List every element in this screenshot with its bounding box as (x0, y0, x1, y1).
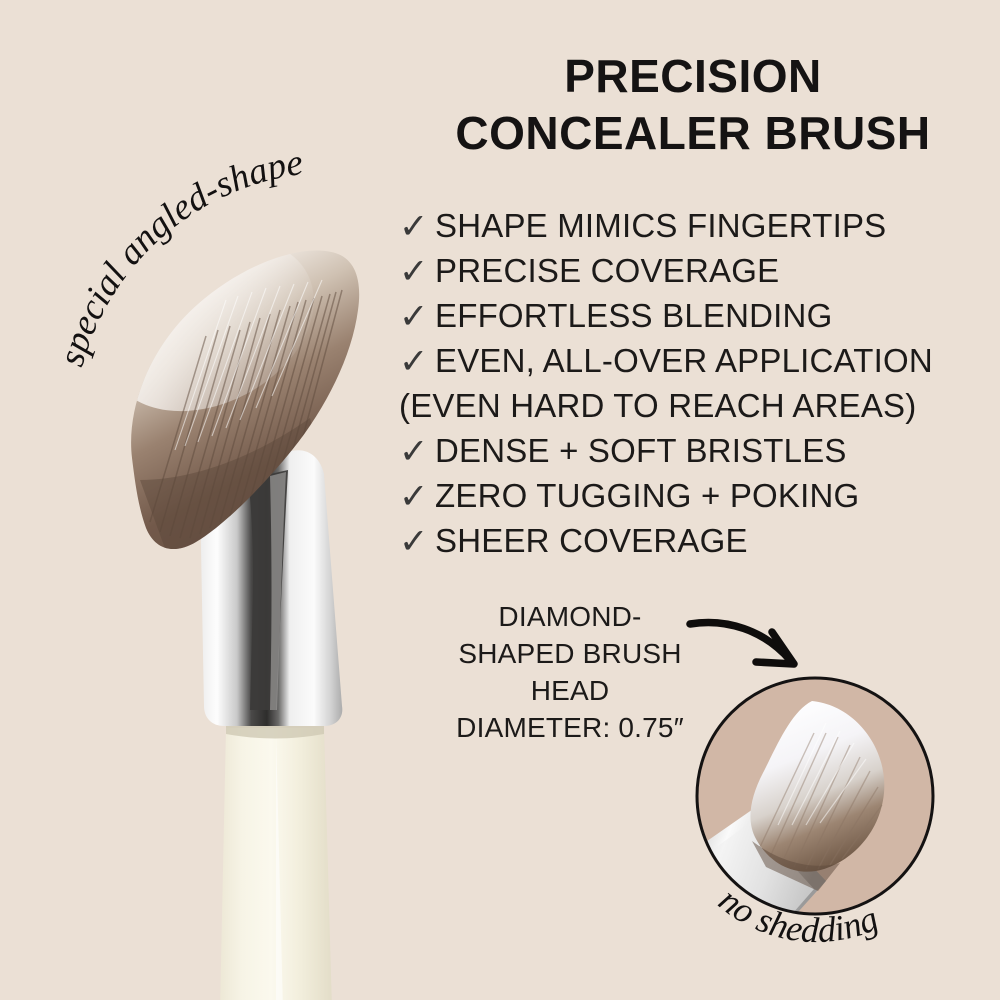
infographic-canvas: special angled-shape PRECISION CONCEALER… (0, 0, 1000, 1000)
title-line-1: PRECISION (398, 48, 988, 105)
check-icon: ✓ (399, 299, 435, 334)
caption-line-3: HEAD (430, 672, 710, 709)
caption-line-1: DIAMOND- (430, 598, 710, 635)
angled-shape-text: special angled-shape (51, 142, 305, 371)
diamond-head-caption: DIAMOND- SHAPED BRUSH HEAD DIAMETER: 0.7… (430, 598, 710, 746)
feature-label: SHAPE MIMICS FINGERTIPS (435, 203, 886, 248)
no-shedding-text: no shedding (712, 879, 884, 950)
feature-item-dense-soft-bristles: ✓ DENSE + SOFT BRISTLES (399, 428, 999, 473)
caption-line-4: DIAMETER: 0.75″ (430, 709, 710, 746)
check-icon: ✓ (399, 524, 435, 559)
arrow-icon (686, 600, 826, 680)
no-shedding-curved-label: no shedding (668, 860, 968, 980)
feature-label: DENSE + SOFT BRISTLES (435, 428, 847, 473)
feature-item-effortless-blending: ✓ EFFORTLESS BLENDING (399, 293, 999, 338)
feature-label: SHEER COVERAGE (435, 518, 748, 563)
feature-item-zero-tugging-poking: ✓ ZERO TUGGING + POKING (399, 473, 999, 518)
check-icon: ✓ (399, 209, 435, 244)
check-icon: ✓ (399, 434, 435, 469)
caption-line-2: SHAPED BRUSH (430, 635, 710, 672)
feature-item-sheer-coverage: ✓ SHEER COVERAGE (399, 518, 999, 563)
check-icon: ✓ (399, 344, 435, 379)
feature-label: EVEN, ALL-OVER APPLICATION (435, 338, 933, 383)
feature-continuation-line: (EVEN HARD TO REACH AREAS) (399, 383, 999, 428)
angled-shape-curved-label: special angled-shape (40, 60, 420, 380)
feature-item-even-all-over-application: ✓ EVEN, ALL-OVER APPLICATION (399, 338, 999, 383)
feature-label: EFFORTLESS BLENDING (435, 293, 832, 338)
page-title: PRECISION CONCEALER BRUSH (398, 48, 988, 162)
check-icon: ✓ (399, 254, 435, 289)
feature-item-precise-coverage: ✓ PRECISE COVERAGE (399, 248, 999, 293)
feature-list: ✓ SHAPE MIMICS FINGERTIPS ✓ PRECISE COVE… (399, 203, 999, 563)
title-line-2: CONCEALER BRUSH (398, 105, 988, 162)
feature-item-shape-mimics-fingertips: ✓ SHAPE MIMICS FINGERTIPS (399, 203, 999, 248)
feature-label: ZERO TUGGING + POKING (435, 473, 859, 518)
feature-label: PRECISE COVERAGE (435, 248, 779, 293)
check-icon: ✓ (399, 479, 435, 514)
